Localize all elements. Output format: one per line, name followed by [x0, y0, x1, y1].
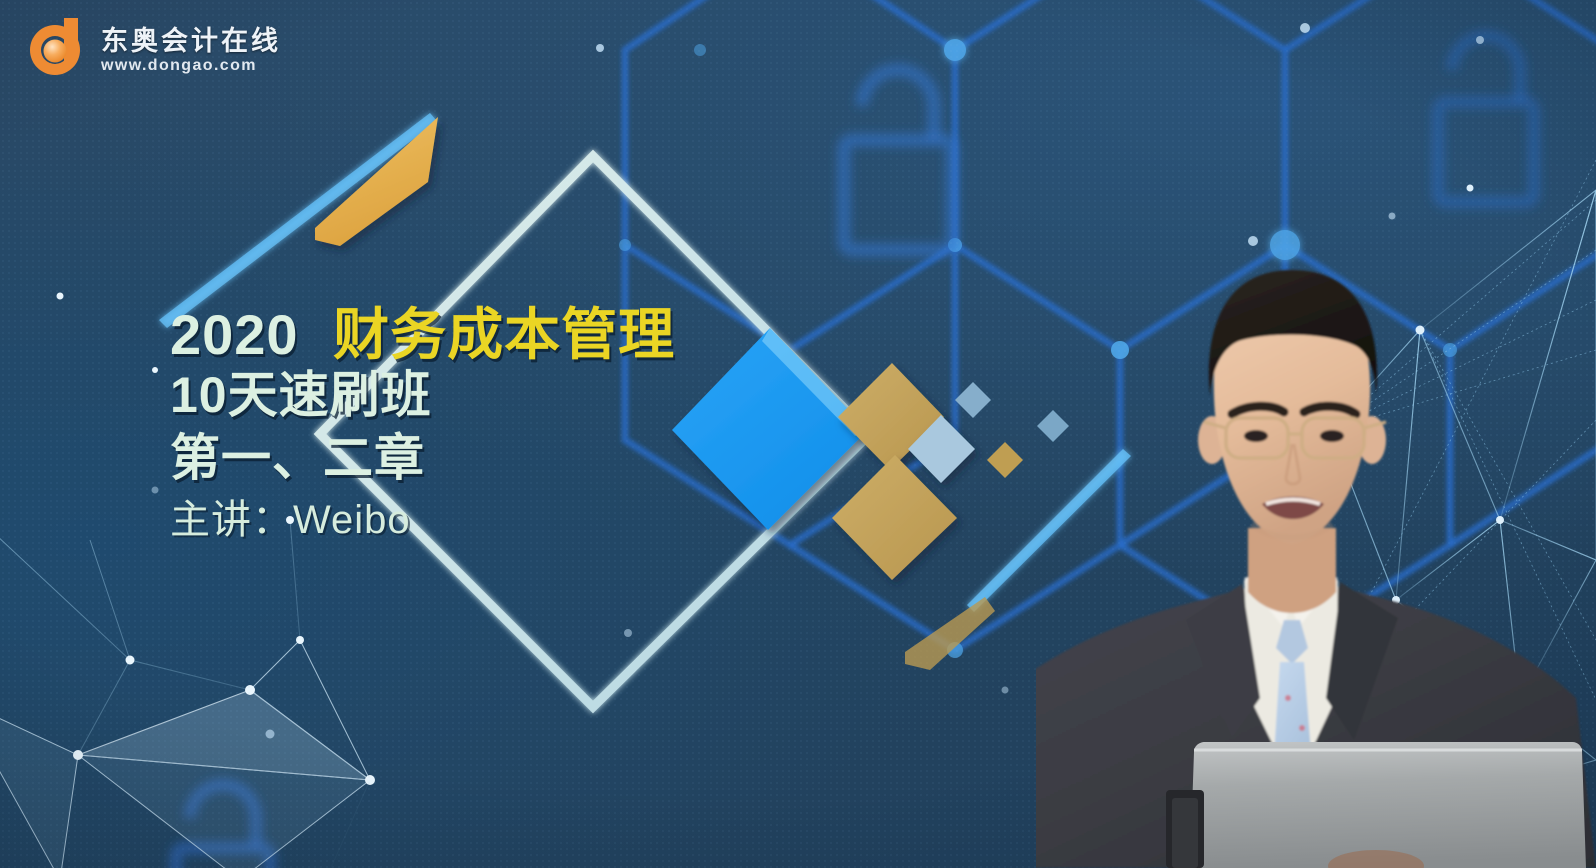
- title-line-year-subject: 2020 财务成本管理: [170, 306, 790, 364]
- slide-title-block: 2020 财务成本管理 10天速刷班 第一、二章 主讲：Weibo: [170, 306, 790, 550]
- dongao-d-logo-icon: [22, 16, 88, 84]
- brand-url: www.dongao.com: [101, 58, 281, 74]
- blue-diagonal-streak-icon: [159, 113, 437, 328]
- gold-diagonal-stripe-icon: [315, 117, 438, 246]
- title-presenter: 主讲：Weibo: [170, 490, 790, 550]
- laptop-device: [1166, 728, 1596, 868]
- gold-diagonal-stripe-icon: [905, 597, 995, 670]
- title-subject: 财务成本管理: [333, 303, 675, 366]
- brand-logo[interactable]: 东奥会计在线 www.dongao.com: [22, 16, 281, 84]
- title-course: 10天速刷班: [170, 364, 790, 427]
- brand-logo-text: 东奥会计在线 www.dongao.com: [101, 26, 281, 74]
- video-frame: 东奥会计在线 www.dongao.com 2020 财务成本管理 10天速刷班…: [0, 0, 1596, 868]
- title-year: 2020: [170, 303, 299, 366]
- brand-name: 东奥会计在线: [101, 28, 281, 55]
- filled-gold-diamond-small-icon: [987, 442, 1023, 478]
- filled-pale-blue-diamond-small-icon: [955, 382, 991, 418]
- title-chapters: 第一、二章: [170, 427, 790, 490]
